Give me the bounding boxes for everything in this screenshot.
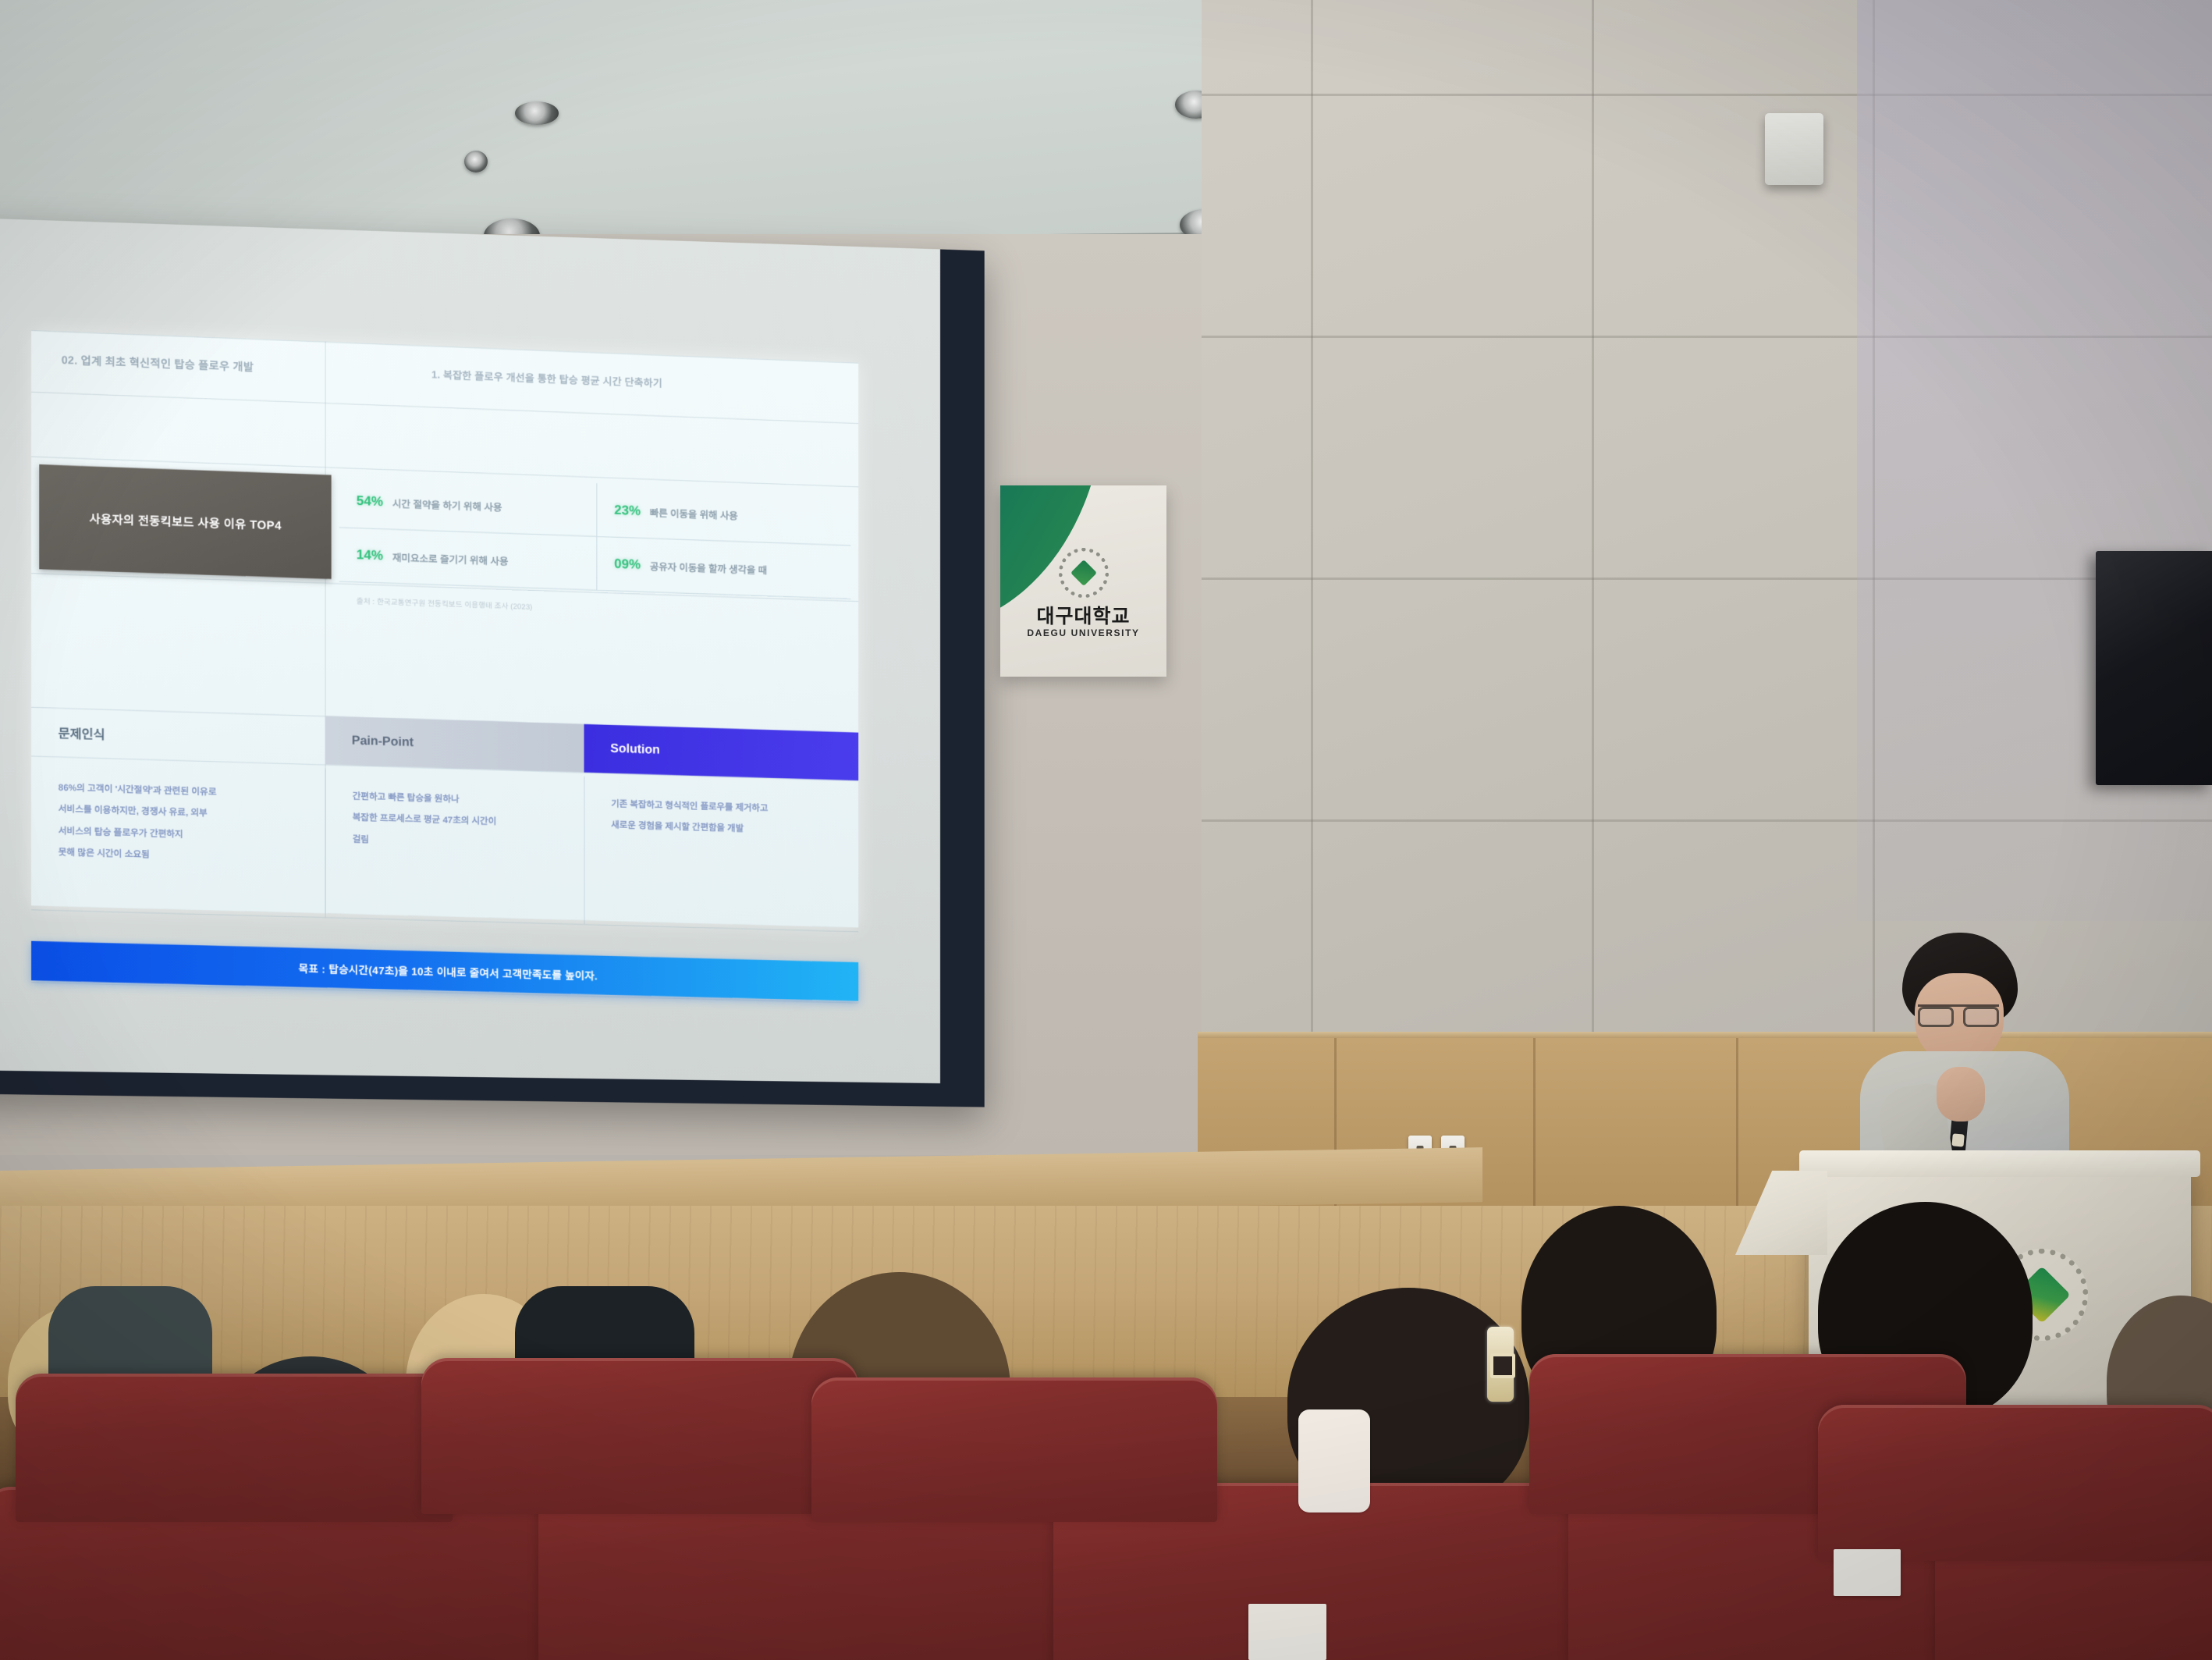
- slide-subtitle: 1. 복잡한 플로우 개선을 통한 탑승 평균 시간 단축하기: [431, 366, 662, 389]
- stat-label: 시간 절약을 하기 위해 사용: [392, 495, 502, 514]
- podium-top-surface: [1799, 1150, 2200, 1177]
- comparison-line: 서비스를 이용하지만, 경쟁사 유료, 외부: [59, 804, 302, 822]
- slide-stat-grid: 54%시간 절약을 하기 위해 사용23%빠른 이동을 위해 사용14%재미요소…: [339, 474, 851, 599]
- auditorium-seat: [811, 1377, 1217, 1522]
- auditorium-seat: [1818, 1405, 2212, 1561]
- wall-fixture-box: [1765, 113, 1823, 185]
- stat-percent: 23%: [614, 503, 641, 519]
- slide-footnote: 출처 : 한국교통연구원 전동킥보드 이용행태 조사 (2023): [357, 595, 533, 612]
- projection-screen-surface: 02. 업계 최초 혁신적인 탑승 플로우 개발 1. 복잡한 플로우 개선을 …: [0, 217, 940, 1083]
- comparison-line: 못해 많은 시간이 소요됨: [59, 848, 302, 866]
- comparison-line: 복잡한 프로세스로 평균 47초의 시간이: [353, 812, 561, 830]
- stat-percent: 09%: [614, 556, 641, 573]
- ceiling-downlight: [464, 151, 488, 172]
- comparison-line: 서비스의 탑승 플로우가 간편하지: [59, 826, 302, 844]
- slide-stat-cell: 14%재미요소로 즐기기 위해 사용: [339, 528, 597, 590]
- ceiling-downlight: [515, 101, 559, 125]
- auditorium-seat: [421, 1358, 858, 1514]
- stat-label: 재미요소로 즐기기 위해 사용: [392, 549, 508, 567]
- pearl-hair-clip: [1487, 1327, 1514, 1402]
- slide-dark-chip: 사용자의 전동킥보드 사용 이유 TOP4: [39, 464, 331, 579]
- auditorium-seat: [16, 1374, 453, 1522]
- comparison-header-painpoint: Pain-Point: [325, 716, 584, 772]
- handout-paper: [1248, 1604, 1326, 1660]
- comparison-line: 새로운 경험을 제시할 간편함을 개발: [611, 820, 835, 838]
- projection-screen-frame: 02. 업계 최초 혁신적인 탑승 플로우 개발 1. 복잡한 플로우 개선을 …: [0, 217, 985, 1107]
- wall-speaker: [2096, 551, 2212, 785]
- slide-stat-cell: 09%공유자 이동을 할까 생각을 때: [596, 537, 850, 599]
- comparison-line: 간편하고 빠른 탑승을 원하나: [353, 791, 561, 809]
- face-mask: [1298, 1409, 1370, 1512]
- slide-stat-cell: 23%빠른 이동을 위해 사용: [596, 483, 850, 546]
- comparison-header-problem: 문제인식: [31, 707, 325, 765]
- banner-name-korean: 대구대학교: [1000, 601, 1166, 629]
- comparison-header-solution: Solution: [584, 724, 858, 780]
- comparison-line: 86%의 고객이 '시간절약'과 관련된 이유로: [59, 783, 302, 802]
- banner-name-english: DAEGU UNIVERSITY: [1000, 627, 1166, 638]
- daegu-university-banner: 대구대학교 DAEGU UNIVERSITY: [1000, 485, 1166, 677]
- slide-kicker: 02. 업계 최초 혁신적인 탑승 플로우 개발: [62, 352, 254, 375]
- stat-percent: 54%: [357, 493, 383, 510]
- stat-label: 빠른 이동을 위해 사용: [650, 504, 738, 522]
- stat-percent: 14%: [357, 547, 383, 563]
- presenter-hand: [1937, 1067, 1985, 1121]
- comparison-col-painpoint: 간편하고 빠른 탑승을 원하나복잡한 프로세스로 평균 47초의 시간이걸림: [325, 769, 584, 924]
- comparison-col-solution: 기존 복잡하고 형식적인 플로우를 제거하고새로운 경험을 제시할 간편함을 개…: [584, 777, 858, 932]
- comparison-body-row: 86%의 고객이 '시간절약'과 관련된 이유로서비스를 이용하지만, 경쟁사 …: [31, 759, 858, 931]
- handout-paper-right: [1834, 1549, 1901, 1596]
- university-emblem-icon: [1059, 548, 1109, 598]
- auditorium-photo: 02. 업계 최초 혁신적인 탑승 플로우 개발 1. 복잡한 플로우 개선을 …: [0, 0, 2212, 1660]
- glasses-icon: [1918, 1004, 1999, 1023]
- comparison-line: 기존 복잡하고 형식적인 플로우를 제거하고: [611, 799, 835, 817]
- stat-label: 공유자 이동을 할까 생각을 때: [650, 558, 767, 577]
- presentation-slide: 02. 업계 최초 혁신적인 탑승 플로우 개발 1. 복잡한 플로우 개선을 …: [31, 330, 858, 928]
- comparison-col-problem: 86%의 고객이 '시간절약'과 관련된 이유로서비스를 이용하지만, 경쟁사 …: [31, 759, 325, 917]
- comparison-line: 걸림: [353, 834, 561, 851]
- slide-stat-cell: 54%시간 절약을 하기 위해 사용: [339, 474, 597, 537]
